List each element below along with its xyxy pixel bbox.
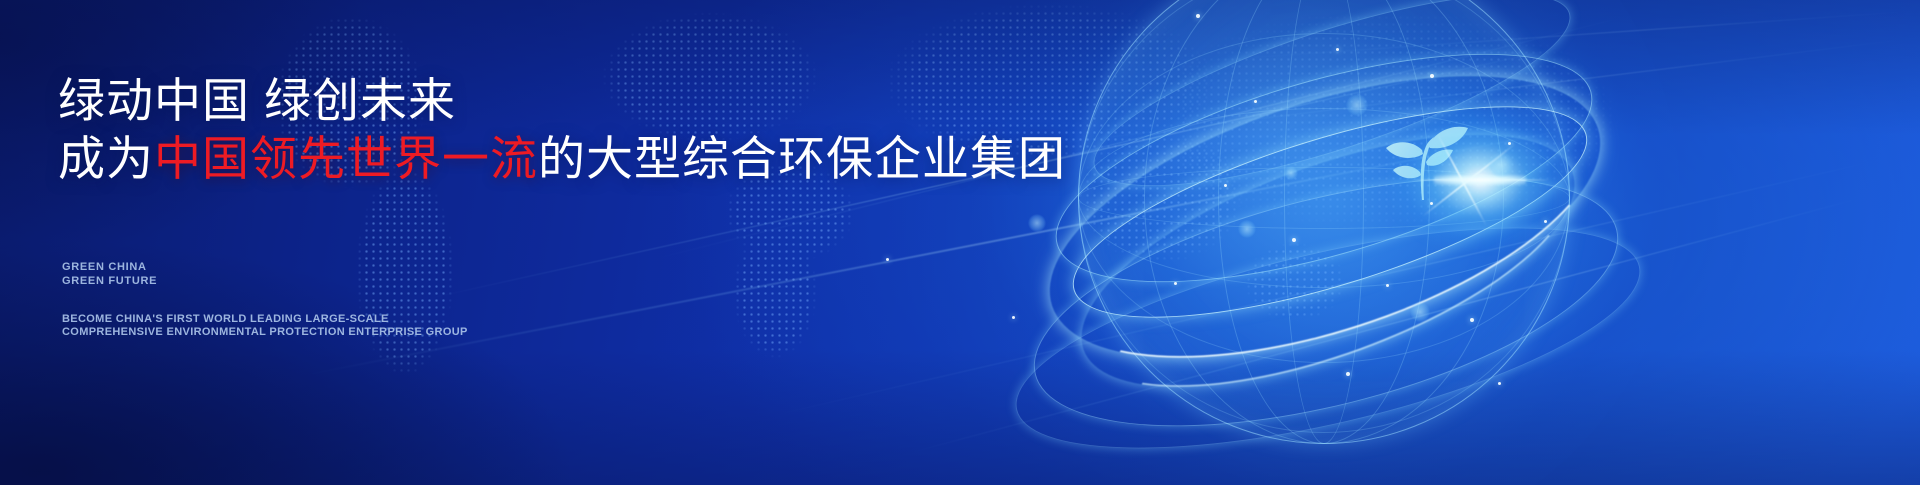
headline-prefix: 成为 — [58, 132, 154, 185]
bokeh-particle — [1488, 152, 1514, 178]
particle — [1346, 372, 1350, 376]
burst-core — [1434, 175, 1526, 185]
particle — [1430, 74, 1434, 78]
headline-line-1: 绿动中国 绿创未来 — [58, 72, 1066, 130]
bokeh-particle — [1284, 166, 1298, 180]
particle — [1498, 382, 1501, 385]
banner-copy: 绿动中国 绿创未来 成为中国领先世界一流的大型综合环保企业集团 GREEN CH… — [58, 0, 1058, 485]
slogan-english-line-2: GREEN FUTURE — [62, 274, 157, 288]
globe-graphic — [1078, 0, 1570, 444]
particle — [1254, 100, 1257, 103]
headline-suffix: 的大型综合环保企业集团 — [538, 132, 1066, 185]
particle — [1196, 14, 1200, 18]
particle — [1386, 284, 1389, 287]
tagline-english: BECOME CHINA'S FIRST WORLD LEADING LARGE… — [62, 313, 468, 339]
tagline-english-line-2: COMPREHENSIVE ENVIRONMENTAL PROTECTION E… — [62, 326, 468, 339]
particle — [1174, 282, 1177, 285]
slogan-english: GREEN CHINA GREEN FUTURE — [62, 260, 157, 288]
headline: 绿动中国 绿创未来 成为中国领先世界一流的大型综合环保企业集团 — [58, 72, 1066, 188]
bokeh-particle — [1346, 94, 1368, 116]
particle — [1336, 48, 1339, 51]
headline-line-2: 成为中国领先世界一流的大型综合环保企业集团 — [58, 130, 1066, 188]
bokeh-particle — [1410, 302, 1430, 322]
light-burst-icon — [1480, 180, 1482, 182]
slogan-english-line-1: GREEN CHINA — [62, 260, 157, 274]
promotional-banner: 绿动中国 绿创未来 成为中国领先世界一流的大型综合环保企业集团 GREEN CH… — [0, 0, 1920, 485]
particle — [1224, 184, 1227, 187]
particle — [1544, 220, 1547, 223]
particle — [1292, 238, 1296, 242]
tagline-english-line-1: BECOME CHINA'S FIRST WORLD LEADING LARGE… — [62, 313, 468, 326]
particle — [1470, 318, 1474, 322]
particle — [1430, 202, 1433, 205]
particle — [1508, 142, 1511, 145]
headline-highlight: 中国领先世界一流 — [154, 132, 538, 185]
bokeh-particle — [1238, 220, 1256, 238]
